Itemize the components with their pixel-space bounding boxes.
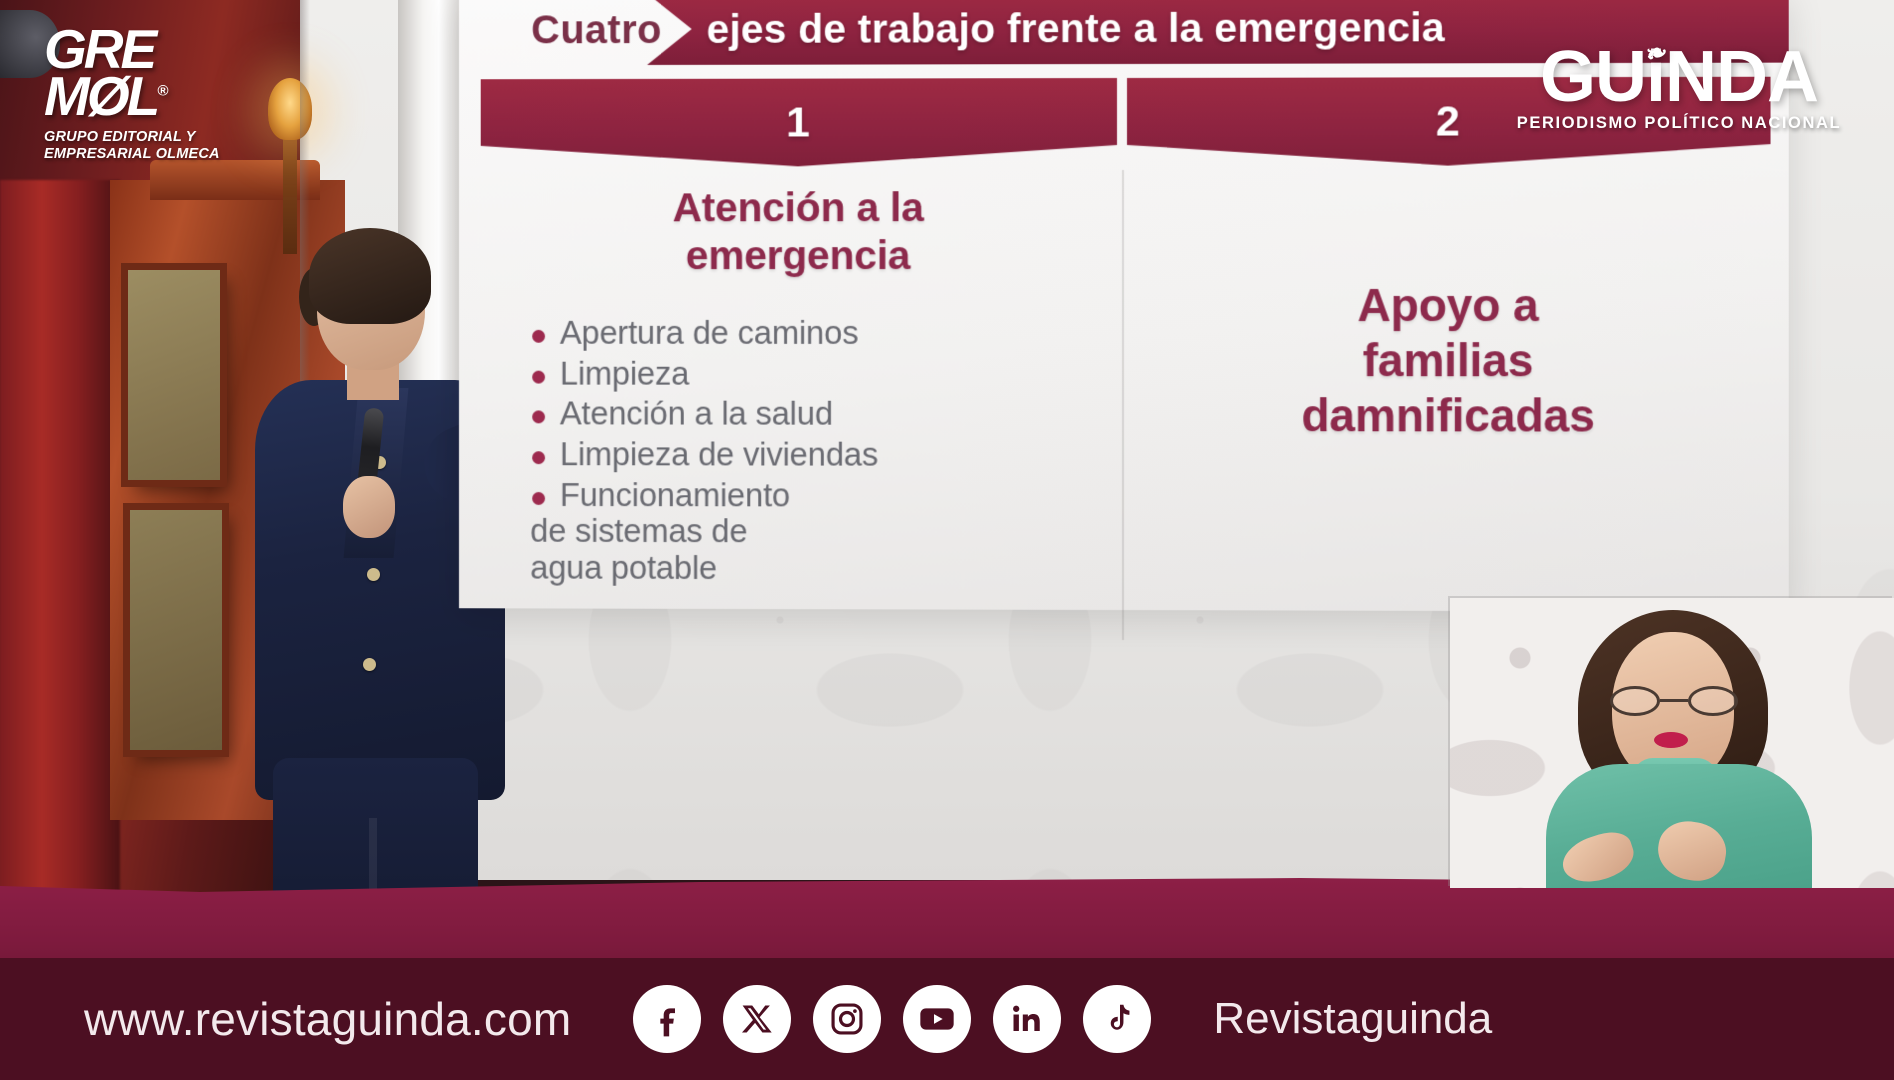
instagram-icon[interactable] [813, 985, 881, 1053]
gremol-logo-line2-text: MØL [44, 65, 157, 127]
panel-1-title: Atención a la emergencia [506, 184, 1091, 279]
tiktok-icon[interactable] [1083, 985, 1151, 1053]
presenter-hair [309, 228, 431, 324]
list-item: Limpieza de viviendas [530, 436, 1091, 473]
registered-mark-icon: ® [157, 83, 168, 100]
panel-1-body: Atención a la emergencia Apertura de cam… [481, 166, 1117, 587]
youtube-icon[interactable] [903, 985, 971, 1053]
linkedin-icon[interactable] [993, 985, 1061, 1053]
list-item: Apertura de caminos [530, 315, 1091, 352]
blazer-button [367, 568, 380, 581]
gremol-subtitle-line1: GRUPO EDITORIAL Y [44, 129, 264, 146]
panel-2-title-line1: Apoyo a [1153, 278, 1744, 333]
guinda-logo-wordmark: GUiNDA ❧ [1540, 44, 1818, 110]
gremol-logo-line2: MØL® [44, 73, 264, 120]
list-item: Funcionamiento de sistemas de agua potab… [530, 477, 1091, 588]
bullet-text: Apertura de caminos [560, 314, 858, 351]
footer-handle[interactable]: Revistaguinda [1213, 994, 1492, 1044]
guinda-logo: GUiNDA ❧ PERIODISMO POLÍTICO NACIONAL [1504, 44, 1854, 133]
panel-2-title-line2: familias [1153, 333, 1744, 389]
guinda-logo-text: GUiNDA [1540, 37, 1818, 117]
red-curtain [0, 180, 120, 970]
panel-2-title: Apoyo a familias damnificadas [1153, 278, 1744, 444]
broadcast-frame: Cuatro ejes de trabajo frente a la emerg… [0, 0, 1894, 1080]
gremol-logo: GRE MØL® GRUPO EDITORIAL Y EMPRESARIAL O… [44, 26, 264, 163]
bullet-text: Limpieza [560, 354, 689, 391]
panel-1-title-line2: emergencia [506, 232, 1091, 280]
interpreter-lips [1654, 732, 1688, 748]
glasses-icon [1610, 686, 1738, 716]
panel-2-number: 2 [1436, 97, 1460, 146]
list-item: Atención a la salud [530, 396, 1091, 433]
panel-divider [1122, 170, 1124, 640]
bullet-continuation: agua potable [530, 550, 1091, 588]
panel-1-title-line1: Atención a la [506, 184, 1091, 232]
guinda-logo-tagline: PERIODISMO POLÍTICO NACIONAL [1504, 114, 1854, 133]
gremol-logo-subtitle: GRUPO EDITORIAL Y EMPRESARIAL OLMECA [44, 129, 264, 163]
list-item: Limpieza [530, 355, 1091, 392]
sign-language-interpreter-inset [1450, 598, 1894, 888]
slide-panels: 1 Atención a la emergencia Apertura de c… [481, 77, 1771, 580]
lamp-post [283, 134, 297, 254]
footer-website[interactable]: www.revistaguinda.com [84, 992, 571, 1046]
slide-header-eyebrow: Cuatro [483, 0, 711, 65]
panel-2: 2 Apoyo a familias damnificadas [1127, 77, 1771, 580]
social-links [633, 985, 1151, 1053]
panel-1-bullet-list: Apertura de caminos Limpieza Atención a … [506, 315, 1091, 587]
panel-1-number-band: 1 [481, 78, 1117, 167]
panel-2-title-line3: damnificadas [1153, 388, 1744, 444]
bullet-continuation: de sistemas de [530, 513, 1091, 551]
presenter-left-hand [343, 476, 395, 538]
panel-2-body: Apoyo a familias damnificadas [1127, 165, 1771, 444]
facebook-icon[interactable] [633, 985, 701, 1053]
panel-1: 1 Atención a la emergencia Apertura de c… [481, 78, 1117, 578]
bullet-text: Limpieza de viviendas [560, 435, 878, 472]
footer-content: www.revistaguinda.com [0, 958, 1894, 1080]
panel-1-number: 1 [786, 99, 810, 148]
x-icon[interactable] [723, 985, 791, 1053]
bullet-text: Funcionamiento [560, 476, 790, 513]
blazer-button [363, 658, 376, 671]
bullet-text: Atención a la salud [560, 395, 833, 432]
gremol-subtitle-line2: EMPRESARIAL OLMECA [44, 146, 264, 163]
